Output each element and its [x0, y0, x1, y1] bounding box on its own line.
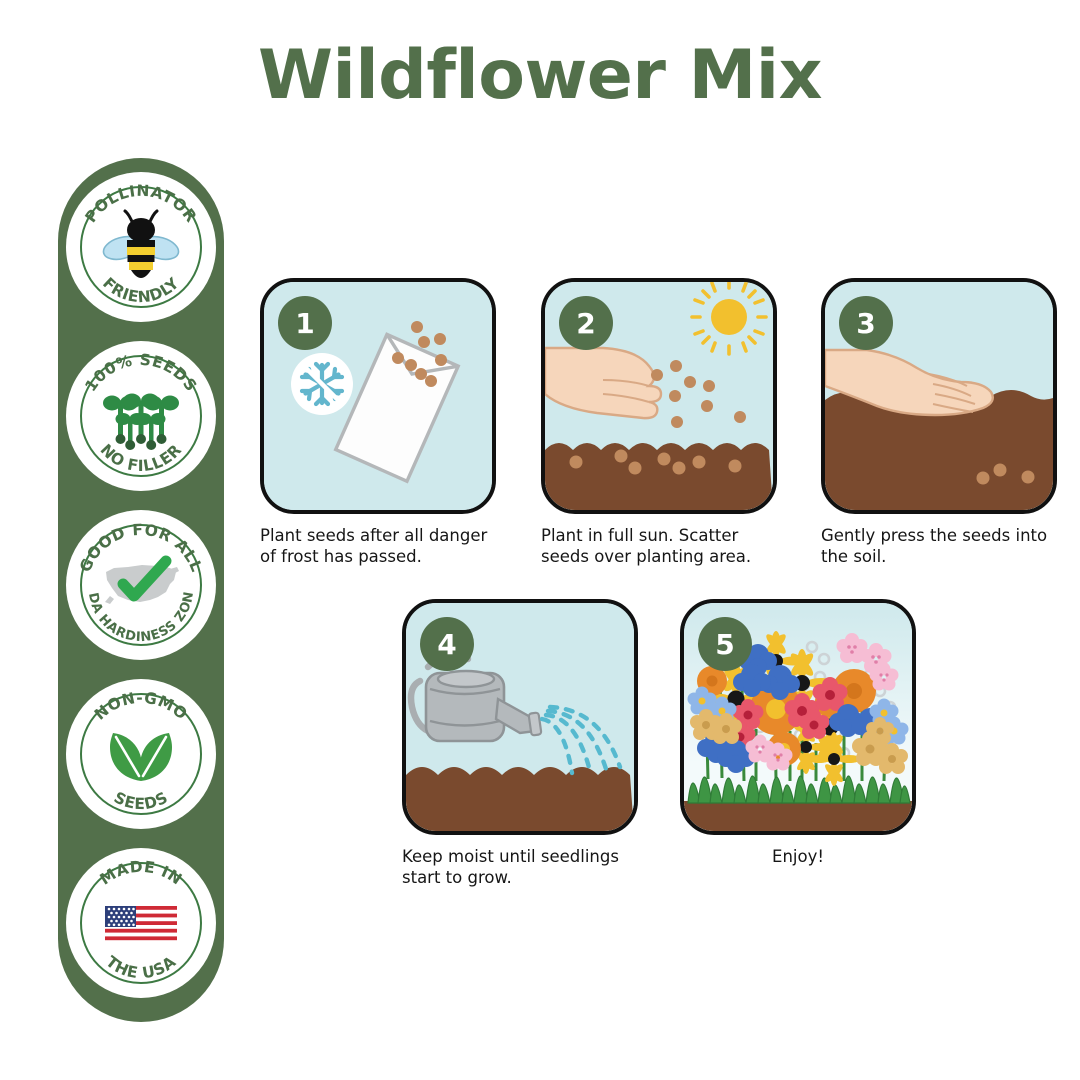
step-illustration-1: 1	[260, 278, 496, 514]
step-caption: Plant in full sun. Scatter seeds over pl…	[541, 525, 777, 567]
step-card-3: 3 Gently press the seeds into the soil.	[821, 278, 1057, 567]
step-caption: Keep moist until seedlings start to grow…	[402, 846, 638, 888]
svg-text:THE USA: THE USA	[102, 952, 179, 982]
step-illustration-5: 5	[680, 599, 916, 835]
badge-text: 100% SEEDS NO FILLER	[66, 341, 216, 491]
step-number-badge: 1	[278, 296, 332, 350]
step-number-badge: 5	[698, 617, 752, 671]
badge-non-gmo-seeds: NON-GMO SEEDS	[66, 679, 216, 829]
page-title: Wildflower Mix	[0, 36, 1080, 115]
svg-text:100% SEEDS: 100% SEEDS	[82, 351, 201, 395]
step-number-badge: 2	[559, 296, 613, 350]
step-illustration-4: 4	[402, 599, 638, 835]
step-card-4: 4 Keep moist until seedlings start to gr…	[402, 599, 638, 888]
badge-100-percent-seeds: 100% SEEDS NO FILLER	[66, 341, 216, 491]
step-card-5: 5 Enjoy!	[680, 599, 916, 867]
svg-text:USDA HARDINESS ZONES: USDA HARDINESS ZONES	[66, 510, 197, 645]
badge-text: MADE IN THE USA	[66, 848, 216, 998]
svg-text:MADE IN: MADE IN	[97, 858, 186, 889]
step-caption: Gently press the seeds into the soil.	[821, 525, 1057, 567]
svg-text:POLLINATOR: POLLINATOR	[82, 182, 201, 226]
svg-text:NO FILLER: NO FILLER	[97, 441, 186, 475]
step-card-1: 1 Plant seeds after all danger of frost …	[260, 278, 496, 567]
svg-text:NON-GMO: NON-GMO	[91, 689, 191, 724]
badge-usda-hardiness-zones: GOOD FOR ALL USDA HARDINESS ZONES	[66, 510, 216, 660]
badge-text: NON-GMO SEEDS	[66, 679, 216, 829]
badge-text: POLLINATOR FRIENDLY	[66, 172, 216, 322]
step-number-badge: 3	[839, 296, 893, 350]
svg-text:SEEDS: SEEDS	[111, 788, 171, 813]
badge-made-in-the-usa: MADE IN THE USA	[66, 848, 216, 998]
step-caption: Plant seeds after all danger of frost ha…	[260, 525, 496, 567]
certification-badge-rail: POLLINATOR FRIENDLY	[58, 158, 224, 1022]
step-illustration-3: 3	[821, 278, 1057, 514]
seed-packet-instruction-graphic: Wildflower Mix	[0, 0, 1080, 1080]
step-number-badge: 4	[420, 617, 474, 671]
badge-pollinator-friendly: POLLINATOR FRIENDLY	[66, 172, 216, 322]
badge-text: GOOD FOR ALL USDA HARDINESS ZONES	[66, 510, 216, 660]
svg-text:GOOD FOR ALL: GOOD FOR ALL	[76, 521, 206, 575]
step-illustration-2: 2	[541, 278, 777, 514]
step-caption: Enjoy!	[680, 846, 916, 867]
step-card-2: 2 Plant in full sun. Scatter seeds over …	[541, 278, 777, 567]
svg-text:FRIENDLY: FRIENDLY	[99, 274, 183, 306]
